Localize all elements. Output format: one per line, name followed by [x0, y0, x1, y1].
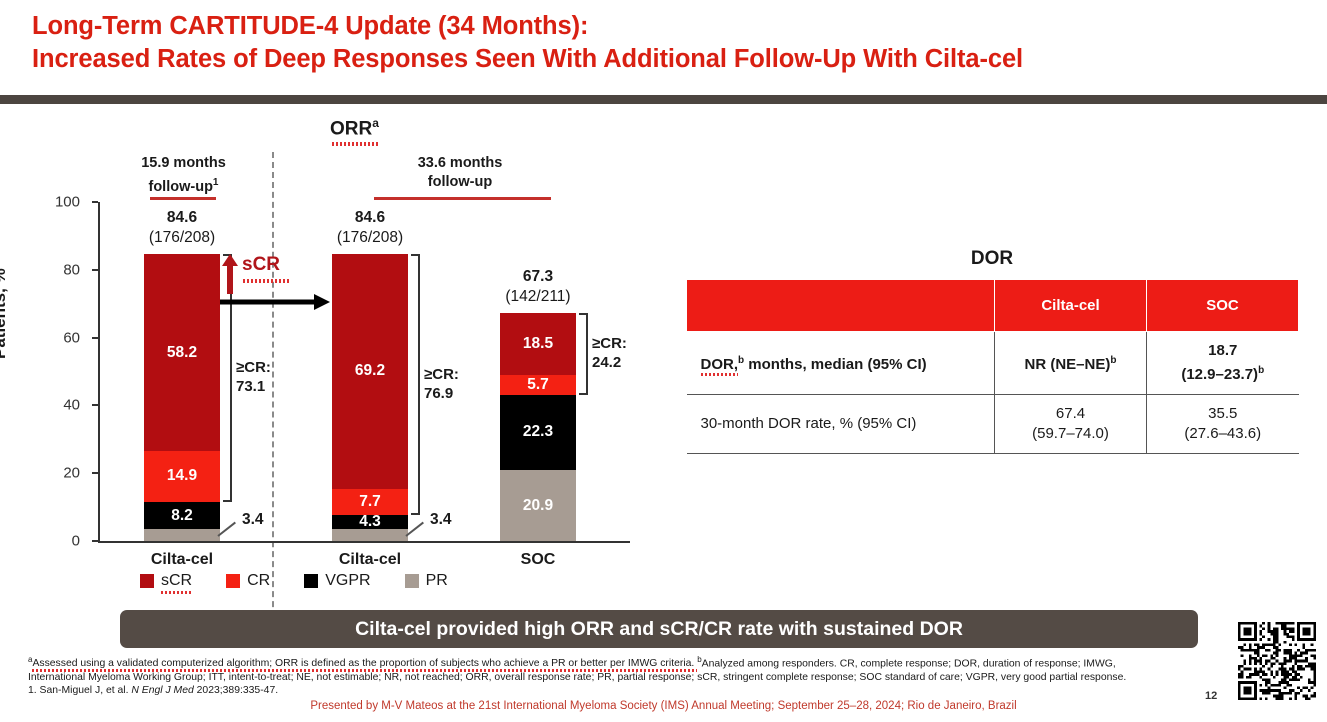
bar-3-total-value: 67.3	[523, 268, 553, 285]
chart-title-text: ORR	[330, 118, 372, 139]
y-axis-tick-20: 20	[40, 465, 80, 482]
bar-1-segment-PR	[144, 529, 220, 541]
bar-3: 18.55.722.320.9	[500, 313, 576, 541]
bar-1-segment-sCR: 58.2	[144, 254, 220, 451]
dor-row1-cilta-sup: b	[1110, 355, 1116, 366]
bar-3-total-label: 67.3(142/211)	[463, 267, 613, 307]
x-axis-label-3: SOC	[463, 551, 613, 569]
x-axis-label-1: Cilta-cel	[107, 551, 257, 569]
y-axis-tick-100: 100	[40, 194, 80, 211]
y-axis-line	[98, 202, 100, 542]
cr-bracket-prefix-3: ≥CR:	[592, 335, 627, 352]
footnote-line-1: aAssessed using a validated computerized…	[28, 653, 1218, 671]
followup-rule-2	[374, 197, 551, 200]
cr-bracket-value-3: 24.2	[592, 354, 621, 371]
callout-pr-value-2: 3.4	[430, 511, 452, 529]
dor-row2-cilta: 67.4 (59.7–74.0)	[995, 395, 1147, 454]
cr-bracket-label-1: ≥CR:73.1	[236, 358, 300, 396]
dor-header-cilta-cel: Cilta-cel	[995, 280, 1147, 332]
legend-label-CR: CR	[247, 572, 270, 590]
y-axis-tick-40: 40	[40, 397, 80, 414]
callout-leader-line-1	[217, 522, 236, 537]
bar-1-total-label: 84.6(176/208)	[107, 208, 257, 248]
y-axis-tickmark-100	[92, 201, 98, 203]
legend-swatch-sCR	[140, 574, 154, 588]
dor-row2-soc-ci: (27.6–43.6)	[1184, 425, 1261, 442]
scr-arrow-icon	[218, 252, 368, 314]
dor-row1-label-rest: months, median (95% CI)	[744, 356, 927, 373]
dor-row1-label-main: DOR,	[701, 356, 739, 373]
bar-1-segment-VGPR: 8.2	[144, 502, 220, 530]
dor-table-body: DOR,b months, median (95% CI) NR (NE–NE)…	[687, 332, 1299, 454]
cr-bracket-3	[579, 313, 588, 395]
legend-item-sCR: sCR	[140, 572, 192, 590]
presented-by-line: Presented by M-V Mateos at the 21st Inte…	[0, 700, 1327, 712]
x-axis-line	[98, 541, 630, 543]
bar-3-segment-VGPR: 22.3	[500, 395, 576, 471]
callout-pr-value-1: 3.4	[242, 511, 264, 529]
dor-row2-label: 30-month DOR rate, % (95% CI)	[687, 395, 995, 454]
followup-2-line1: 33.6 months	[418, 155, 503, 171]
cr-bracket-prefix-2: ≥CR:	[424, 366, 459, 383]
x-axis-label-2: Cilta-cel	[295, 551, 445, 569]
legend-item-CR: CR	[226, 572, 270, 590]
y-axis-tickmark-80	[92, 269, 98, 271]
scr-increase-annotation: sCR	[218, 252, 368, 319]
cr-bracket-2	[411, 254, 420, 515]
followup-label-1: 15.9 months follow-up1	[116, 154, 251, 197]
summary-banner-text: Cilta-cel provided high ORR and sCR/CR r…	[355, 618, 963, 641]
bar-1-total-value: 84.6	[167, 209, 197, 226]
bar-2-total-value: 84.6	[355, 209, 385, 226]
legend-label-sCR: sCR	[161, 572, 192, 590]
reference-suffix: 2023;389:335-47.	[194, 685, 278, 696]
scr-annotation-label: sCR	[242, 254, 280, 276]
y-axis-tickmark-20	[92, 472, 98, 474]
dor-table-head: Cilta-cel SOC	[687, 280, 1299, 332]
dor-row2-cilta-value: 67.4	[1056, 405, 1085, 422]
dor-row1-soc-sup: b	[1258, 365, 1264, 376]
followup-1-line1: 15.9 months	[141, 155, 226, 171]
dor-row2-cilta-ci: (59.7–74.0)	[1032, 425, 1109, 442]
footnotes: aAssessed using a validated computerized…	[28, 653, 1218, 698]
followup-label-2: 33.6 months follow-up	[355, 154, 565, 192]
y-axis-tick-60: 60	[40, 329, 80, 346]
bar-3-segment-PR: 20.9	[500, 470, 576, 541]
cr-bracket-label-2: ≥CR:76.9	[424, 365, 488, 403]
table-row: 30-month DOR rate, % (95% CI) 67.4 (59.7…	[687, 395, 1299, 454]
cr-bracket-label-3: ≥CR:24.2	[592, 334, 656, 372]
header-divider	[0, 95, 1327, 104]
followup-1-superscript: 1	[213, 177, 219, 188]
footnote-line-3: 1. San-Miguel J, et al. N Engl J Med 202…	[28, 684, 1218, 698]
y-axis-label: Patients, %	[0, 268, 10, 359]
dor-table-section: DOR Cilta-cel SOC DOR,b months, median (…	[686, 248, 1298, 454]
cr-bracket-value-2: 76.9	[424, 385, 453, 402]
legend-item-PR: PR	[405, 572, 448, 590]
bar-3-total-fraction: (142/211)	[505, 288, 570, 305]
legend-swatch-PR	[405, 574, 419, 588]
dor-row1-soc-value: 18.7	[1208, 342, 1237, 359]
chart-legend: sCR CR VGPR PR	[140, 572, 448, 590]
y-axis-tickmark-60	[92, 337, 98, 339]
cr-bracket-prefix-1: ≥CR:	[236, 359, 271, 376]
legend-label-VGPR: VGPR	[325, 572, 370, 590]
dor-row1-soc: 18.7 (12.9–23.7)b	[1147, 332, 1299, 395]
dor-header-blank	[687, 280, 995, 332]
table-row: DOR,b months, median (95% CI) NR (NE–NE)…	[687, 332, 1299, 395]
summary-banner: Cilta-cel provided high ORR and sCR/CR r…	[120, 610, 1198, 648]
followup-2-line2: follow-up	[428, 174, 492, 190]
spellcheck-underline-scr	[243, 279, 289, 283]
bar-3-segment-sCR: 18.5	[500, 313, 576, 376]
title-line-2: Increased Rates of Deep Responses Seen W…	[32, 43, 1302, 76]
dor-table: Cilta-cel SOC DOR,b months, median (95% …	[686, 279, 1299, 454]
legend-swatch-VGPR	[304, 574, 318, 588]
bar-3-segment-CR: 5.7	[500, 375, 576, 394]
dor-table-title: DOR	[686, 248, 1298, 270]
bar-1-segment-CR: 14.9	[144, 451, 220, 502]
footnote-text-b: Analyzed among responders. CR, complete …	[702, 658, 1116, 669]
bar-2-total-label: 84.6(176/208)	[295, 208, 445, 248]
page-title: Long-Term CARTITUDE-4 Update (34 Months)…	[32, 10, 1302, 76]
legend-label-PR: PR	[426, 572, 448, 590]
legend-item-VGPR: VGPR	[304, 572, 370, 590]
dor-header-soc: SOC	[1147, 280, 1299, 332]
chart-title: ORRa	[330, 116, 379, 140]
callout-leader-line-2	[405, 522, 424, 537]
followup-rule-1	[150, 197, 216, 200]
followup-1-line2: follow-up	[149, 179, 213, 195]
dor-row2-soc: 35.5 (27.6–43.6)	[1147, 395, 1299, 454]
qr-code-icon[interactable]	[1238, 622, 1316, 700]
y-axis-tick-0: 0	[40, 533, 80, 550]
bar-2-segment-CR: 7.7	[332, 489, 408, 515]
y-axis-tickmark-40	[92, 404, 98, 406]
bar-1: 58.214.98.2	[144, 254, 220, 541]
dor-row1-label: DOR,b months, median (95% CI)	[687, 332, 995, 395]
chart-title-superscript: a	[372, 116, 379, 130]
reference-prefix: 1. San-Miguel J, et al.	[28, 685, 131, 696]
bar-1-total-fraction: (176/208)	[149, 229, 215, 246]
bar-2-segment-PR	[332, 529, 408, 541]
footnote-text-a: Assessed using a validated computerized …	[32, 658, 697, 669]
title-line-1: Long-Term CARTITUDE-4 Update (34 Months)…	[32, 10, 1302, 43]
dor-row1-cilta-value: NR (NE–NE)	[1025, 356, 1111, 373]
reference-journal: N Engl J Med	[131, 685, 193, 696]
dor-row2-soc-value: 35.5	[1208, 405, 1237, 422]
y-axis-tick-80: 80	[40, 261, 80, 278]
dor-row1-cilta: NR (NE–NE)b	[995, 332, 1147, 395]
footnote-line-2: International Myeloma Working Group; ITT…	[28, 671, 1218, 685]
spellcheck-underline-orr	[332, 142, 380, 146]
orr-chart: ORRa 15.9 months follow-up1 33.6 months …	[0, 104, 670, 604]
dor-header-row: Cilta-cel SOC	[687, 280, 1299, 332]
bar-2-total-fraction: (176/208)	[337, 229, 403, 246]
bar-2-segment-VGPR: 4.3	[332, 515, 408, 530]
cr-bracket-value-1: 73.1	[236, 378, 265, 395]
legend-swatch-CR	[226, 574, 240, 588]
dor-row1-soc-ci: (12.9–23.7)	[1181, 366, 1258, 383]
y-axis-tickmark-0	[92, 540, 98, 542]
